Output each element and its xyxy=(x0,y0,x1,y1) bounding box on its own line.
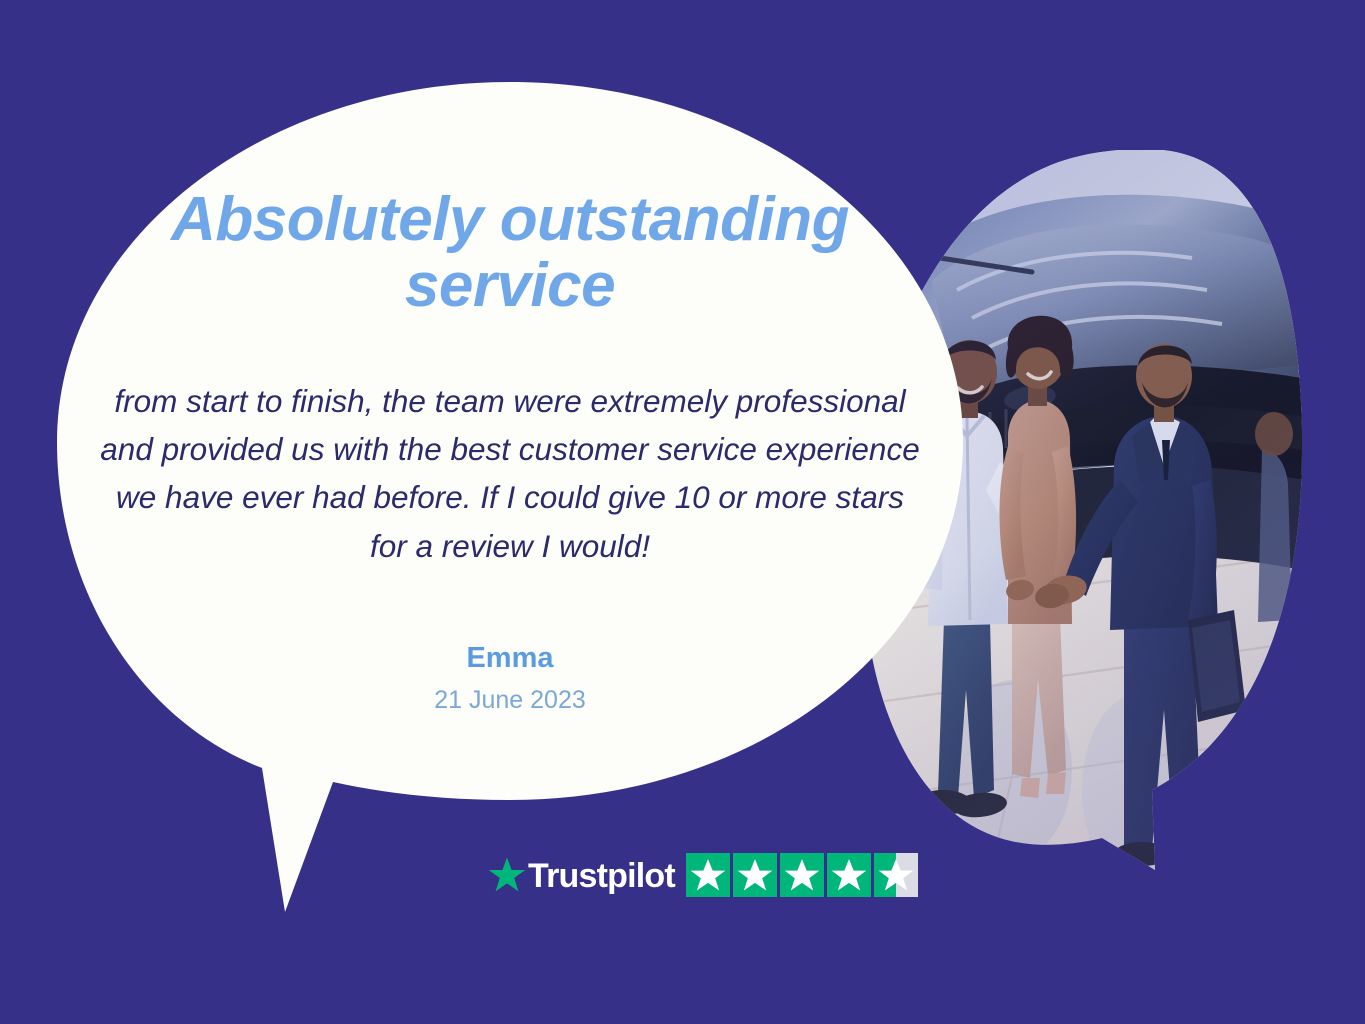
trustpilot-rating[interactable]: Trustpilot xyxy=(488,849,918,901)
trustpilot-star-row xyxy=(686,853,918,897)
rating-star-2 xyxy=(733,853,777,897)
star-icon xyxy=(878,857,914,893)
star-icon xyxy=(737,857,773,893)
trustpilot-star-icon xyxy=(488,856,526,894)
rating-star-4 xyxy=(827,853,871,897)
rating-star-5-half xyxy=(874,853,918,897)
rating-star-3 xyxy=(780,853,824,897)
review-speech-bubble xyxy=(57,82,963,922)
rating-star-1 xyxy=(686,853,730,897)
star-icon xyxy=(831,857,867,893)
star-icon xyxy=(784,857,820,893)
testimonial-card: Absolutely outstanding service from star… xyxy=(0,0,1365,1024)
trustpilot-logo[interactable]: Trustpilot xyxy=(488,856,675,894)
trustpilot-wordmark: Trustpilot xyxy=(528,859,675,893)
star-icon xyxy=(690,857,726,893)
